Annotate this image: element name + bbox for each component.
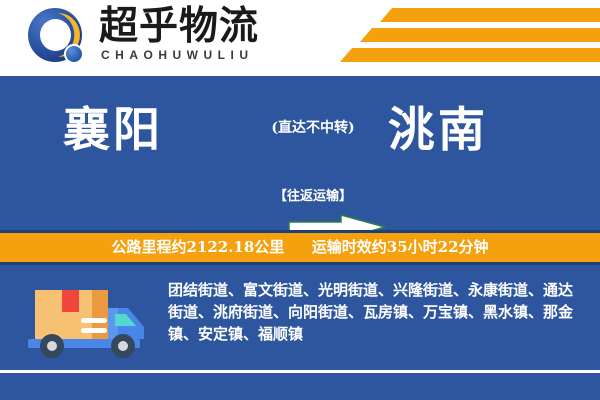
coverage-area-list: 团结街道、富文街道、光明街道、兴隆街道、永康街道、通达街道、洮府街道、向阳街道、… <box>168 279 586 345</box>
brand-name-en: CHAOHUWULIU <box>101 49 254 62</box>
logo-accent-dot <box>64 44 84 64</box>
route-info-bar: 公路里程约2122.18公里 运输时效约35小时22分钟 <box>0 233 600 262</box>
chaohu-circle-logo-icon <box>28 8 90 70</box>
origin-city: 襄阳 <box>63 103 163 159</box>
delivery-truck-icon <box>22 282 152 360</box>
info-bar-content: 公路里程约2122.18公里 运输时效约35小时22分钟 <box>111 239 488 256</box>
speed-stripes-decoration-icon <box>332 8 600 68</box>
direct-shipping-note: (直达不中转) <box>248 120 378 136</box>
banner-header: 超乎物流 CHAOHUWULIU <box>0 0 600 76</box>
route-panel: 襄阳 (直达不中转) 【往返运输】 洮南 <box>0 76 600 230</box>
destination-city: 洮南 <box>388 103 488 159</box>
roundtrip-note: 【往返运输】 <box>243 189 383 204</box>
footer-band <box>0 373 600 400</box>
logistics-route-banner: 超乎物流 CHAOHUWULIU 襄阳 (直达不中转) 【往返运输】 洮南 公路… <box>0 0 600 400</box>
distance-label: 公路里程约2122.18公里 <box>111 238 284 256</box>
duration-label: 运输时效约35小时22分钟 <box>312 238 489 256</box>
brand-name-cn: 超乎物流 <box>99 6 259 46</box>
